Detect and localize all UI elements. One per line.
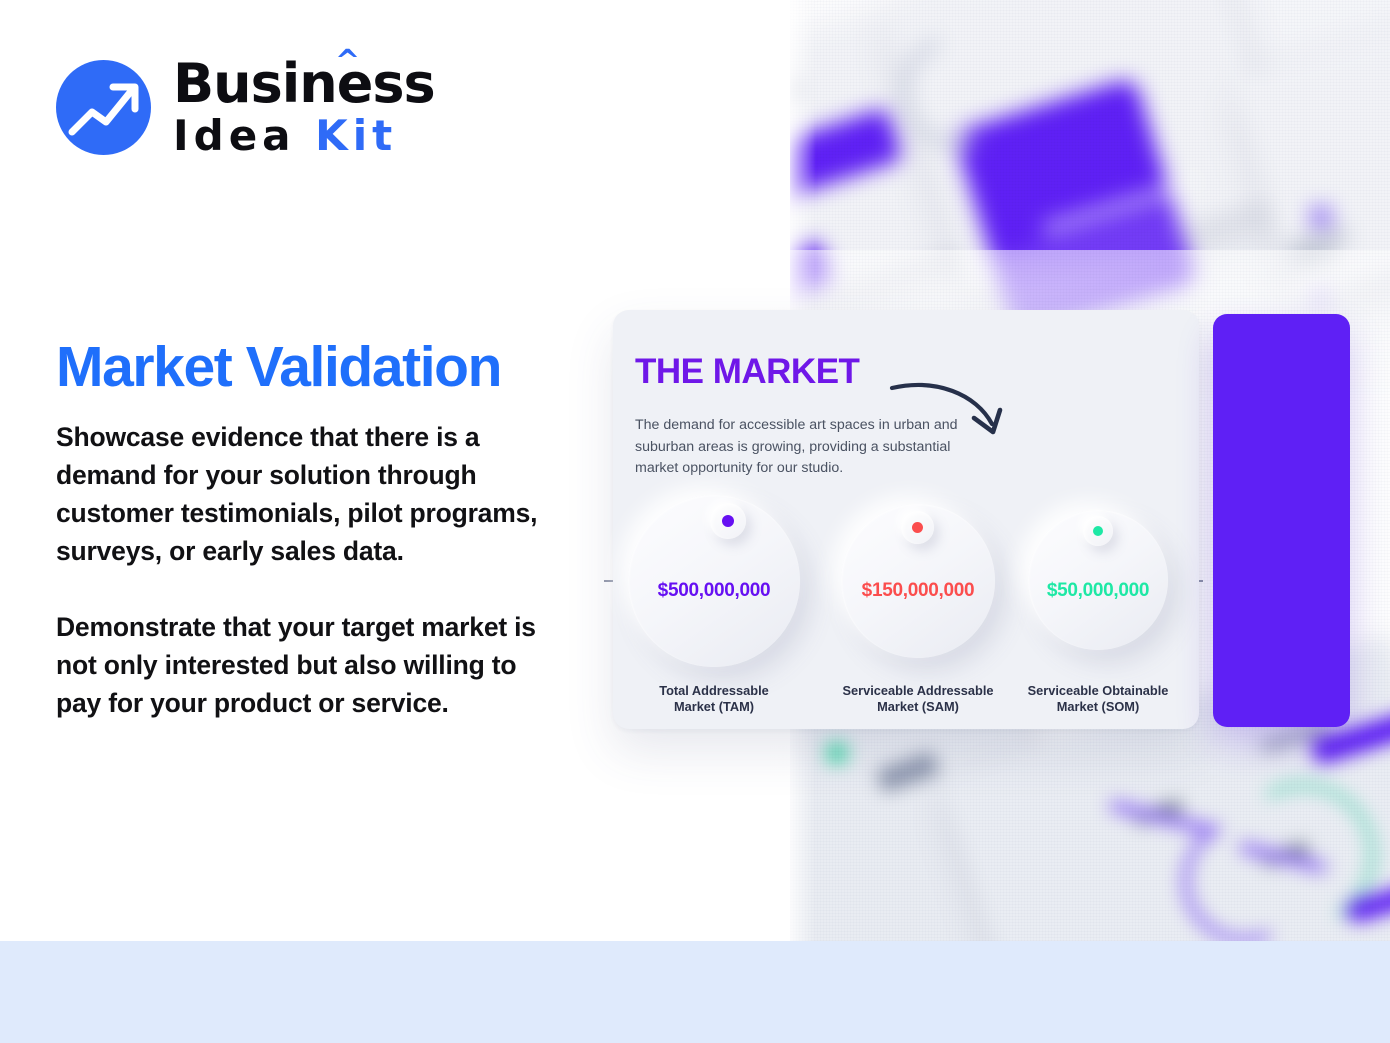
slide-root: Business ^ Idea Kit Market Validation Sh…: [0, 0, 1390, 1043]
page-title: Market Validation: [56, 334, 501, 400]
bubble-tam-amount: $500,000,000: [628, 580, 800, 602]
brand-name-line1: Business ^: [173, 57, 435, 111]
the-market-card: THE MARKET The demand for accessible art…: [613, 310, 1199, 729]
purple-accent-bar: [1213, 314, 1350, 727]
bubble-tam-nub: [710, 503, 746, 539]
bottom-accent-band: [0, 941, 1390, 1043]
bubble-tam-caption-line2: Market (TAM): [609, 699, 819, 715]
market-bubbles: $500,000,000 Total Addressable Market (T…: [613, 310, 1199, 729]
brand-hat-accent-icon: ^: [335, 47, 359, 77]
brand-name-text: Business: [173, 52, 435, 115]
bubble-sam-caption-line2: Market (SAM): [813, 699, 1023, 715]
body-copy: Showcase evidence that there is a demand…: [56, 418, 566, 760]
brand-logo: Business ^ Idea Kit: [56, 57, 435, 157]
brand-idea-text: Idea: [173, 111, 296, 160]
bubble-som-caption-line1: Serviceable Obtainable: [993, 683, 1203, 699]
bubble-tam-dot-icon: [722, 515, 734, 527]
bubble-som-nub: [1083, 516, 1113, 546]
bubble-som-dot-icon: [1093, 526, 1103, 536]
body-paragraph-1: Showcase evidence that there is a demand…: [56, 418, 566, 570]
bubble-sam-amount: $150,000,000: [841, 580, 995, 602]
body-paragraph-2: Demonstrate that your target market is n…: [56, 608, 566, 722]
bubble-som-caption-line2: Market (SOM): [993, 699, 1203, 715]
brand-name-line2: Idea Kit: [173, 115, 435, 157]
bubble-tam-caption-line1: Total Addressable: [609, 683, 819, 699]
bubble-sam-dot-icon: [912, 522, 923, 533]
bubble-som-amount: $50,000,000: [1028, 580, 1168, 602]
brand-wordmark: Business ^ Idea Kit: [173, 57, 435, 157]
growth-arrow-icon: [56, 60, 151, 155]
bubble-sam-nub: [901, 511, 934, 544]
brand-kit-text: Kit: [315, 111, 397, 160]
bubble-sam-caption-line1: Serviceable Addressable: [813, 683, 1023, 699]
